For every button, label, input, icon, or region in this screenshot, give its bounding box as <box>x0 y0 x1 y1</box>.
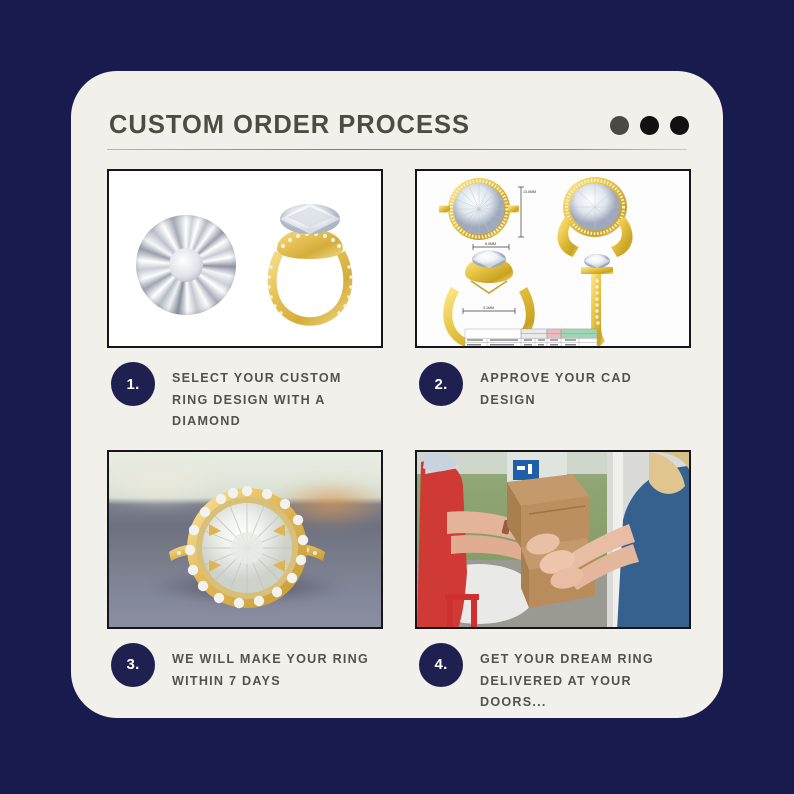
step-1-badge: 1. <box>111 362 155 406</box>
window-dot-2[interactable] <box>640 116 659 135</box>
step-4-label: GET YOUR DREAM RING DELIVERED AT YOUR DO… <box>480 643 680 714</box>
step-2-label: APPROVE YOUR CAD DESIGN <box>480 362 680 411</box>
halo-ring-illustration <box>109 452 383 629</box>
delivery-scene-illustration <box>417 452 691 629</box>
finished-ring-photo <box>109 452 381 627</box>
cad-drawing-illustration: 13.0MM <box>417 171 691 348</box>
round-diamond-icon <box>136 215 236 315</box>
cad-design-sheet: 13.0MM <box>417 171 689 346</box>
cad-dimension-vertical: 13.0MM <box>518 187 536 237</box>
process-card: CUSTOM ORDER PROCESS <box>71 71 723 718</box>
gold-ring-profile-illustration <box>257 193 363 333</box>
window-dots <box>610 116 693 135</box>
step-4-badge: 4. <box>419 643 463 687</box>
step-2-badge: 2. <box>419 362 463 406</box>
svg-text:13.0MM: 13.0MM <box>523 190 536 194</box>
header-divider <box>107 149 687 150</box>
step-2-image-frame: 13.0MM <box>415 169 691 348</box>
poster-canvas: CUSTOM ORDER PROCESS <box>0 0 794 794</box>
delivery-handoff-photo <box>417 452 689 627</box>
step-2-caption: 2. APPROVE YOUR CAD DESIGN <box>415 362 691 411</box>
step-1-caption: 1. SELECT YOUR CUSTOM RING DESIGN WITH A… <box>107 362 383 433</box>
window-dot-3[interactable] <box>670 116 689 135</box>
card-header: CUSTOM ORDER PROCESS <box>109 97 693 153</box>
svg-text:6.0MM: 6.0MM <box>485 242 496 246</box>
step-3-label: WE WILL MAKE YOUR RING WITHIN 7 DAYS <box>172 643 372 692</box>
step-3-caption: 3. WE WILL MAKE YOUR RING WITHIN 7 DAYS <box>107 643 383 692</box>
page-title: CUSTOM ORDER PROCESS <box>109 111 470 140</box>
step-4-image-frame <box>415 450 691 629</box>
step-3-badge: 3. <box>111 643 155 687</box>
step-card-3: 3. WE WILL MAKE YOUR RING WITHIN 7 DAYS <box>107 450 383 714</box>
step-card-4: 4. GET YOUR DREAM RING DELIVERED AT YOUR… <box>415 450 691 714</box>
cad-spec-table <box>465 329 597 348</box>
step-1-image-frame <box>107 169 383 348</box>
diamond-and-gold-ring-photo <box>109 171 381 346</box>
step-card-2: 13.0MM <box>415 169 691 433</box>
steps-grid: 1. SELECT YOUR CUSTOM RING DESIGN WITH A… <box>107 169 691 714</box>
step-3-image-frame <box>107 450 383 629</box>
step-4-caption: 4. GET YOUR DREAM RING DELIVERED AT YOUR… <box>415 643 691 714</box>
svg-text:3.1MM: 3.1MM <box>483 306 494 310</box>
cad-dimension-top-width: 6.0MM <box>473 242 509 250</box>
step-card-1: 1. SELECT YOUR CUSTOM RING DESIGN WITH A… <box>107 169 383 433</box>
window-dot-1[interactable] <box>610 116 629 135</box>
step-1-label: SELECT YOUR CUSTOM RING DESIGN WITH A DI… <box>172 362 372 433</box>
